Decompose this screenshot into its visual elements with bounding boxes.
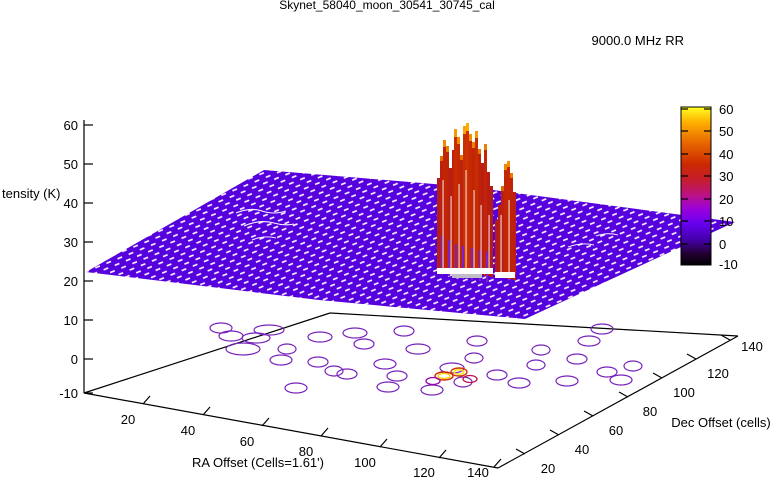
x-tick-label: 140 xyxy=(467,465,489,478)
gnuplot-surface-plot: Skynet_58040_moon_30541_30745_cal 9000.0… xyxy=(0,0,775,478)
legend: 9000.0 MHz RR xyxy=(592,33,740,48)
colorbar-tick-label: 0 xyxy=(719,237,726,252)
colorbar-tick-label: -10 xyxy=(719,257,738,272)
y-axis-line xyxy=(498,336,738,468)
contour-layer xyxy=(210,323,642,395)
x-axis-ticks: 20 40 60 80 100 120 140 RA Offset (Cells… xyxy=(121,396,501,478)
plot-canvas: Skynet_58040_moon_30541_30745_cal 9000.0… xyxy=(0,0,775,478)
page-title: Skynet_58040_moon_30541_30745_cal xyxy=(279,0,495,12)
x-tick-label: 40 xyxy=(181,423,195,438)
surface-mesh xyxy=(86,170,735,319)
z-axis-label: tensity (K) xyxy=(2,186,61,201)
y-tick-label: 80 xyxy=(643,404,657,419)
colorbar-tick-label: 30 xyxy=(719,169,733,184)
colorbar: 60 50 40 30 20 10 0 -10 xyxy=(681,102,738,272)
x-axis-label: RA Offset (Cells=1.61') xyxy=(192,455,324,470)
base-axes xyxy=(84,313,738,468)
z-axis: 60 50 40 30 20 10 0 -10 tensity (K) xyxy=(2,118,93,401)
y-axis-ticks: 20 40 60 80 100 120 140 Dec Offset (cell… xyxy=(516,335,771,476)
y-axis-label: Dec Offset (cells) xyxy=(671,415,770,430)
colorbar-tick-label: 50 xyxy=(719,124,733,139)
y-tick-label: 120 xyxy=(707,366,729,381)
y-tick-label: 40 xyxy=(575,442,589,457)
colorbar-tick-label: 60 xyxy=(719,102,733,117)
surface-plane xyxy=(86,170,735,319)
colorbar-tick-label: 10 xyxy=(719,214,733,229)
x-tick-label: 60 xyxy=(240,434,254,449)
z-tick-label: 40 xyxy=(64,196,78,211)
x-tick-label: 120 xyxy=(413,465,435,478)
y-tick-label: 60 xyxy=(609,423,623,438)
z-axis-ticks xyxy=(84,125,93,393)
z-tick-label: 50 xyxy=(64,157,78,172)
x-tick-label: 20 xyxy=(121,412,135,427)
y-tick-label: 20 xyxy=(541,461,555,476)
z-tick-label: 10 xyxy=(64,313,78,328)
z-tick-label: -10 xyxy=(59,386,78,401)
colorbar-tick-label: 20 xyxy=(719,192,733,207)
z-tick-label: 60 xyxy=(64,118,78,133)
z-tick-label: 20 xyxy=(64,274,78,289)
y-tick-label: 140 xyxy=(741,339,763,354)
z-tick-label: 30 xyxy=(64,235,78,250)
data-spike-cluster xyxy=(437,123,516,282)
contour-peak-cluster xyxy=(426,368,477,385)
z-tick-label: 0 xyxy=(71,352,78,367)
x-tick-label: 100 xyxy=(354,455,376,470)
base-edge-back xyxy=(330,313,738,336)
y-tick-label: 100 xyxy=(673,385,695,400)
contour-blobs xyxy=(210,323,642,395)
colorbar-tick-label: 40 xyxy=(719,147,733,162)
legend-label: 9000.0 MHz RR xyxy=(592,33,684,48)
spike-group-secondary xyxy=(495,161,516,280)
